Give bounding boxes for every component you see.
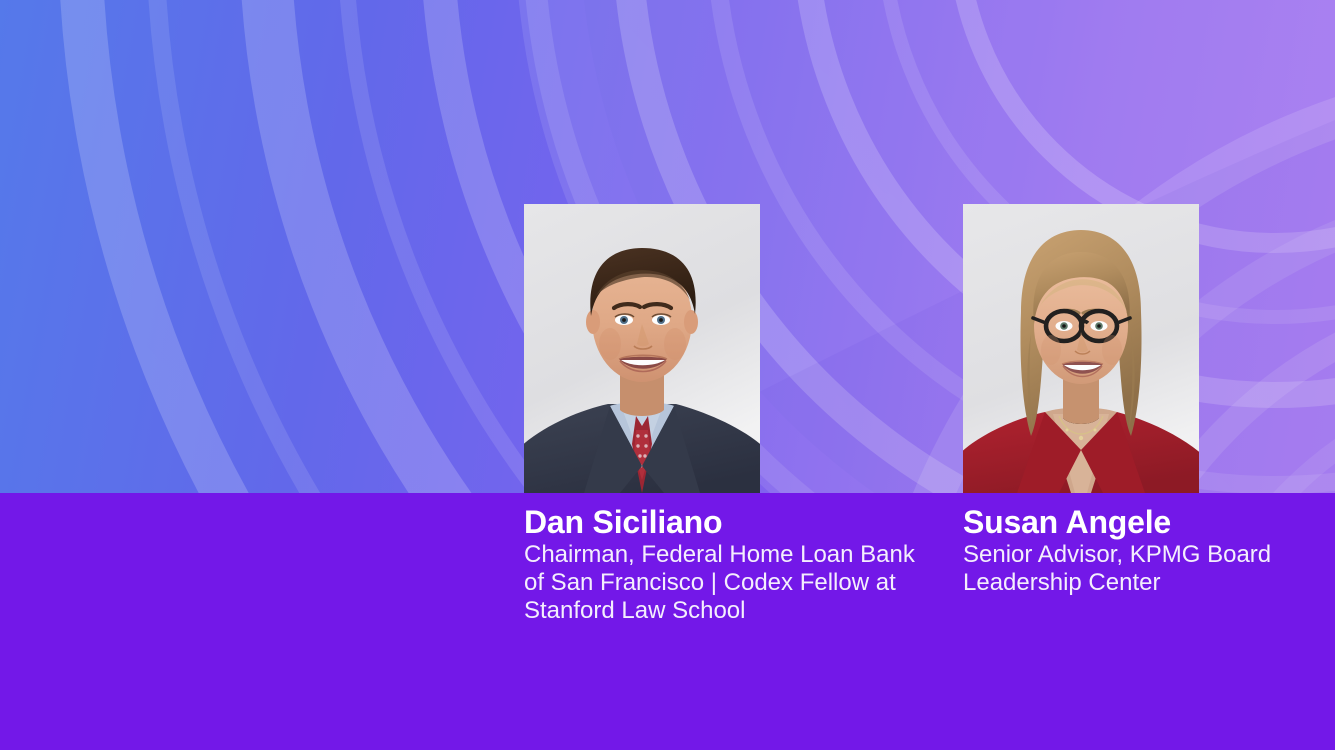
speaker-slide: Dan Siciliano Chairman, Federal Home Loa… xyxy=(0,0,1335,750)
speaker-name-1: Dan Siciliano xyxy=(524,503,944,541)
speaker-name-2: Susan Angele xyxy=(963,503,1303,541)
speaker-photo-2 xyxy=(963,204,1199,493)
speaker-title-1-line-3: Stanford Law School xyxy=(524,597,944,625)
speaker-title-2: Senior Advisor, KPMG Board Leadership Ce… xyxy=(963,541,1303,597)
speaker-caption-1: Dan Siciliano Chairman, Federal Home Loa… xyxy=(524,503,944,625)
speaker-title-2-line-1: Senior Advisor, KPMG Board xyxy=(963,541,1303,569)
speaker-title-1: Chairman, Federal Home Loan Bank of San … xyxy=(524,541,944,625)
speaker-title-1-line-1: Chairman, Federal Home Loan Bank xyxy=(524,541,944,569)
headshot-dan-siciliano xyxy=(524,204,760,493)
headshot-susan-angele xyxy=(963,204,1199,493)
speaker-caption-2: Susan Angele Senior Advisor, KPMG Board … xyxy=(963,503,1303,597)
speaker-title-1-line-2: of San Francisco | Codex Fellow at xyxy=(524,569,944,597)
speaker-photo-1 xyxy=(524,204,760,493)
speaker-title-2-line-2: Leadership Center xyxy=(963,569,1303,597)
